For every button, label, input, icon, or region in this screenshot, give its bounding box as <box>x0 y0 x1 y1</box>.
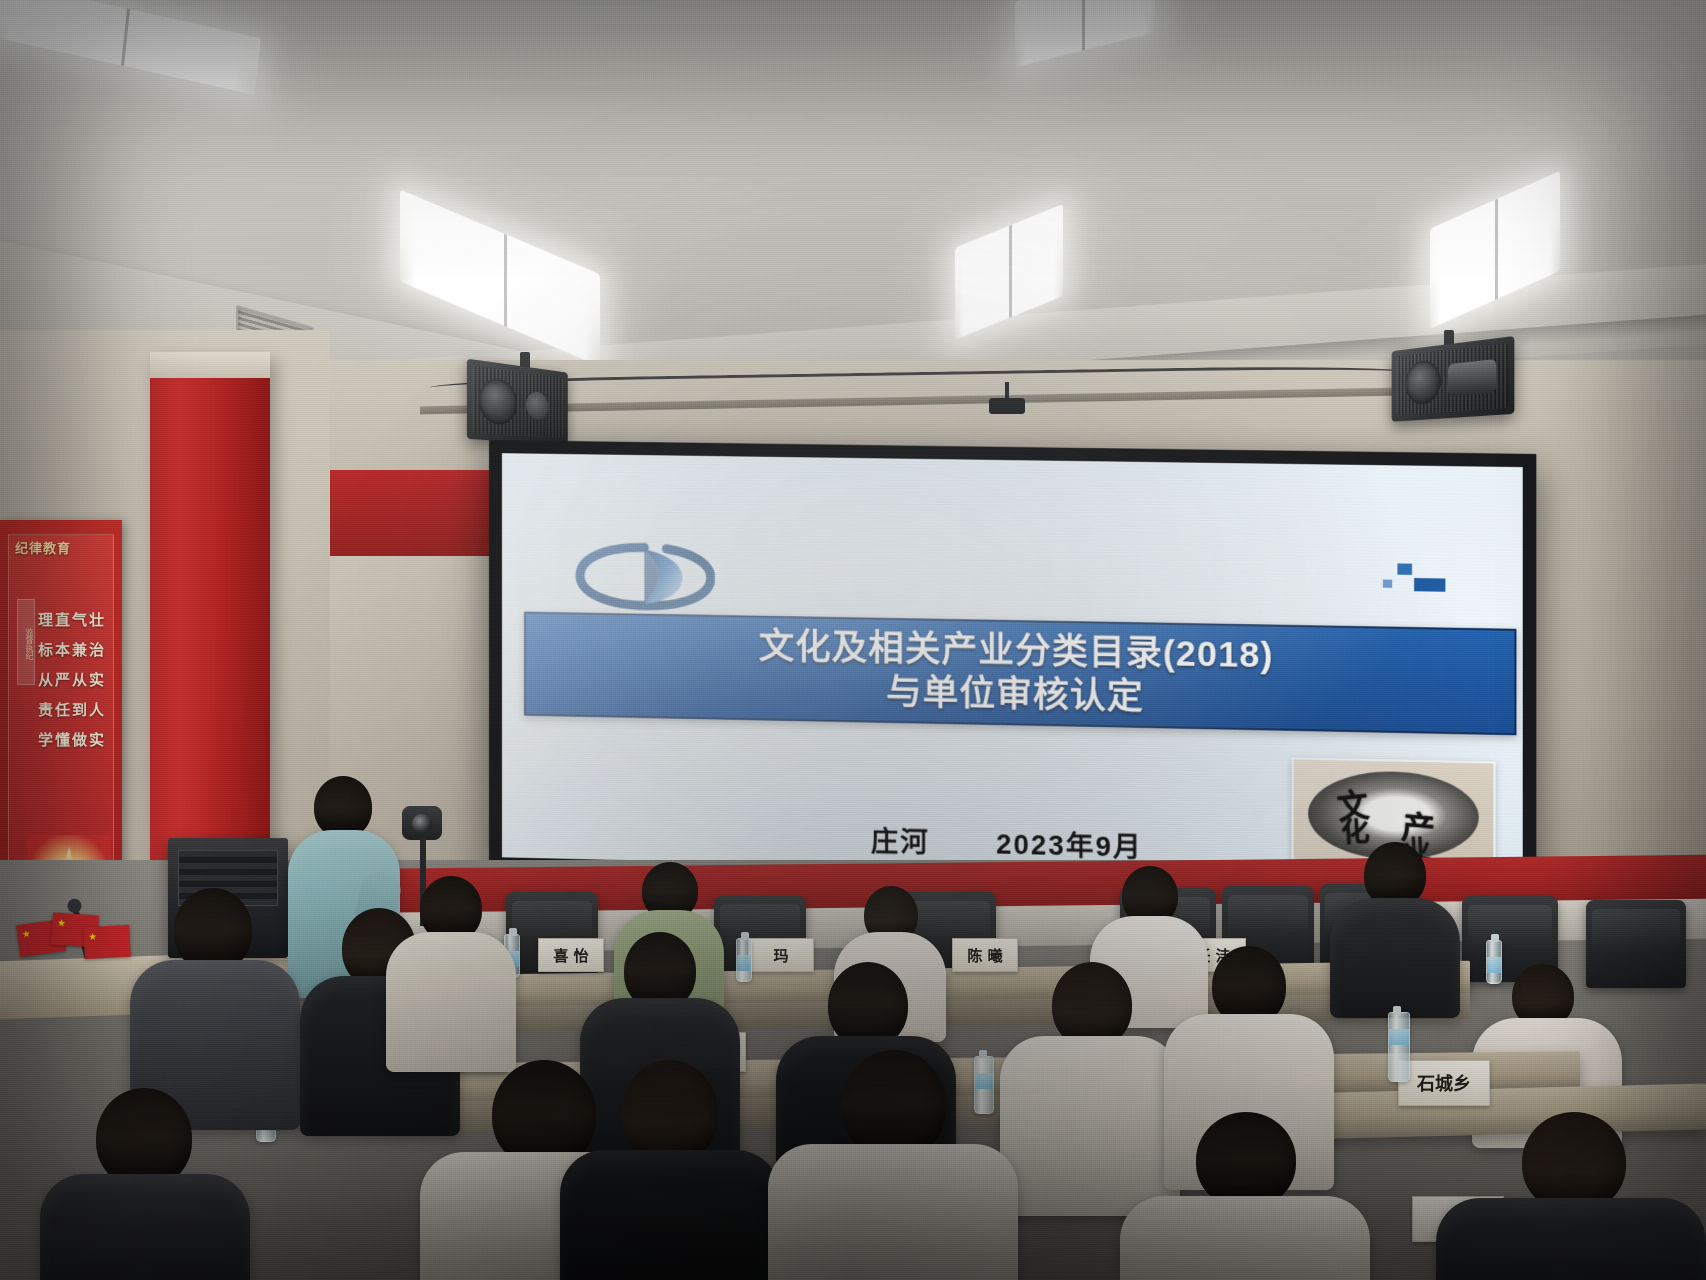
poster-slogan-line: 理直气壮 <box>38 609 106 630</box>
seated-attendee <box>40 1088 250 1280</box>
conference-room-photo: 纪律教育 监督执纪 理直气壮 标本兼治 从严从实 责任到人 学懂做实 <box>0 0 1706 1280</box>
decorative-square-small <box>1383 580 1392 588</box>
attendee-torso <box>1120 1196 1370 1280</box>
poster-seal-text: 监督执纪 <box>17 599 35 685</box>
poster-title: 纪律教育 <box>15 541 77 589</box>
slide-title-bar: 文化及相关产业分类目录(2018) 与单位审核认定 <box>524 612 1516 736</box>
name-card: 石城乡 <box>1398 1060 1490 1106</box>
attendee-torso <box>1436 1198 1706 1280</box>
attendee-torso <box>1330 898 1460 1018</box>
decorative-squares-group <box>1381 563 1448 607</box>
red-pillar-capital <box>150 352 270 378</box>
china-flag-icon <box>83 925 131 959</box>
attendee-head <box>96 1088 192 1188</box>
attendee-torso <box>40 1174 250 1280</box>
poster-slogan-line: 标本兼治 <box>38 639 106 660</box>
attendee-torso <box>560 1150 780 1280</box>
attendee-torso <box>768 1144 1018 1280</box>
organization-ellipse-leaf-logo <box>574 536 715 613</box>
light-divider <box>1009 225 1012 318</box>
decorative-square-wide <box>1414 578 1445 592</box>
light-divider <box>1495 199 1498 300</box>
slide-date: 2023年9月 <box>996 829 1143 863</box>
seated-attendee <box>560 1060 780 1280</box>
presentation-slide: 文化及相关产业分类目录(2018) 与单位审核认定 庄河 2023年9月 文 化… <box>502 453 1523 881</box>
water-bottle <box>1388 1012 1410 1082</box>
poster-slogan-line: 从严从实 <box>38 669 106 690</box>
red-pillar <box>150 360 270 920</box>
footer-spacer <box>939 852 986 853</box>
poster-slogan-line: 学懂做实 <box>38 729 106 750</box>
wall-speaker-right <box>1392 336 1515 422</box>
slide-place: 庄河 <box>871 826 930 858</box>
light-divider <box>504 234 507 327</box>
seated-attendee <box>1120 1112 1370 1280</box>
seated-attendee <box>386 876 516 1066</box>
seated-attendee <box>130 888 300 1118</box>
attendee-head <box>622 1060 718 1164</box>
attendee-head <box>1522 1112 1626 1212</box>
slide-title: 文化及相关产业分类目录(2018) 与单位审核认定 <box>759 625 1274 722</box>
ceiling-projector-sensor <box>985 382 1029 416</box>
seated-attendee <box>768 1050 1018 1280</box>
attendee-head <box>1196 1112 1296 1208</box>
poster-slogan-list: 理直气壮 标本兼治 从严从实 责任到人 学懂做实 <box>35 609 109 831</box>
sensor-housing <box>989 398 1025 414</box>
attendee-torso <box>386 932 516 1072</box>
led-display-screen[interactable]: 文化及相关产业分类目录(2018) 与单位审核认定 庄河 2023年9月 文 化… <box>489 440 1536 894</box>
seated-attendee <box>1330 842 1460 1012</box>
light-divider <box>1082 0 1085 51</box>
seated-attendee <box>1436 1112 1706 1280</box>
speaker-tweeter <box>1448 359 1496 396</box>
small-flags-group <box>18 900 138 990</box>
presenter-head <box>314 776 372 838</box>
wall-speaker-left <box>467 359 568 445</box>
poster-slogan-line: 责任到人 <box>38 699 106 720</box>
bottle-label <box>1389 1029 1409 1045</box>
camera-lens-icon <box>412 814 432 834</box>
decorative-square-top <box>1397 563 1412 574</box>
